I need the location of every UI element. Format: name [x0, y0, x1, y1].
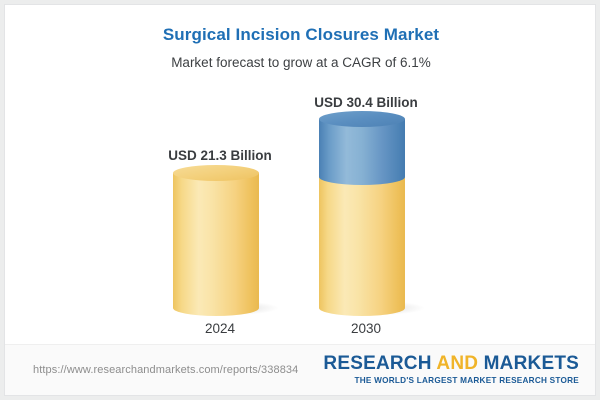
report-url[interactable]: https://www.researchandmarkets.com/repor…: [33, 364, 298, 376]
cylinder-2030[interactable]: [319, 119, 405, 308]
logo-wordmark: RESEARCH AND MARKETS: [323, 353, 579, 375]
cylinder-body-growth-2030: [319, 119, 405, 177]
cylinder-top-ellipse-2030: [319, 111, 405, 127]
bar-year-label-2024: 2024: [140, 321, 300, 336]
logo-tagline: THE WORLD'S LARGEST MARKET RESEARCH STOR…: [323, 376, 579, 385]
research-and-markets-logo[interactable]: RESEARCH AND MARKETS THE WORLD'S LARGEST…: [323, 353, 579, 385]
cylinder-top-ellipse-2024: [173, 165, 259, 181]
bar-value-label-2030: USD 30.4 Billion: [286, 95, 446, 110]
logo-word-research: RESEARCH: [323, 353, 436, 374]
cylinder-body-base-2030: [319, 173, 405, 308]
logo-word-and: AND: [436, 353, 483, 374]
chart-footer: https://www.researchandmarkets.com/repor…: [5, 344, 596, 395]
bar-segment-base-2030[interactable]: [319, 173, 405, 308]
chart-card: Surgical Incision Closures Market Market…: [4, 4, 596, 396]
cylinder-2024[interactable]: [173, 173, 259, 308]
bar-segment-growth-2030[interactable]: [319, 119, 405, 177]
cylinder-body-2024: [173, 173, 259, 308]
bar-year-label-2030: 2030: [286, 321, 446, 336]
bar-value-label-2024: USD 21.3 Billion: [140, 148, 300, 163]
logo-word-markets: MARKETS: [484, 353, 579, 374]
chart-plot-area: USD 21.3 Billion 2024 USD 30.4 Billion: [5, 5, 596, 345]
bar-segment-base-2024[interactable]: [173, 173, 259, 308]
